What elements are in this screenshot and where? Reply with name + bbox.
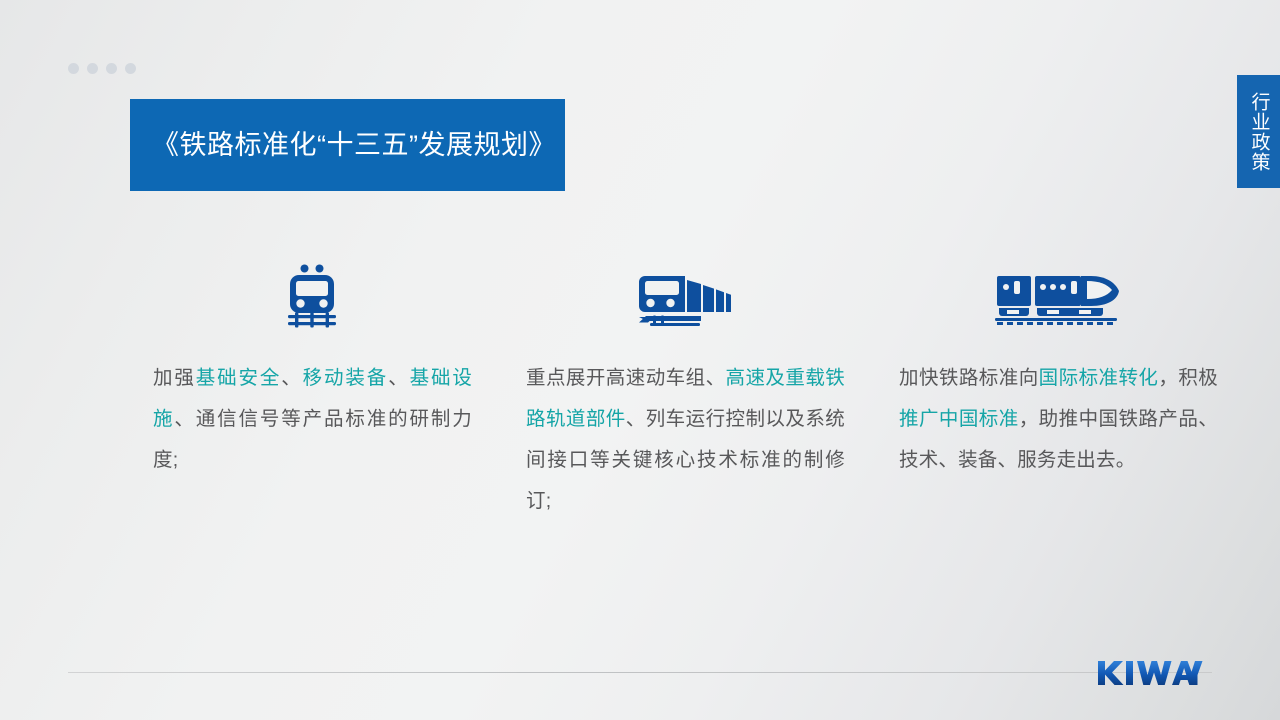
- body-text-run: 加快铁路标准向: [899, 367, 1039, 389]
- body-text-run: ，积极: [1158, 367, 1218, 389]
- body-text-run: 、: [281, 367, 302, 389]
- column-2-text: 重点展开高速动车组、高速及重载铁路轨道部件、列车运行控制以及系统间接口等关键核心…: [498, 358, 871, 522]
- highlighted-phrase: 基础安全: [196, 367, 282, 389]
- high-speed-train-icon: [871, 250, 1244, 328]
- slide-canvas: 《铁路标准化“十三五”发展规划》 行业政策: [0, 0, 1280, 720]
- body-text-run: 重点展开高速动车组、: [526, 367, 726, 389]
- footer-divider: [68, 672, 1212, 673]
- content-column-1: 加强基础安全、移动装备、基础设施、通信信号等产品标准的研制力度;: [125, 250, 498, 522]
- body-text-run: 、通信信号等产品标准的研制力度;: [153, 408, 472, 471]
- title-banner: 《铁路标准化“十三五”发展规划》: [130, 99, 565, 191]
- highlighted-phrase: 移动装备: [303, 367, 389, 389]
- column-3-text: 加快铁路标准向国际标准转化，积极推广中国标准，助推中国铁路产品、技术、装备、服务…: [871, 358, 1244, 481]
- train-front-icon: [125, 250, 498, 328]
- section-tab-label: 行业政策: [1246, 92, 1272, 172]
- column-1-text: 加强基础安全、移动装备、基础设施、通信信号等产品标准的研制力度;: [125, 358, 498, 481]
- brand-logo: [1096, 658, 1204, 688]
- content-column-3: 加快铁路标准向国际标准转化，积极推广中国标准，助推中国铁路产品、技术、装备、服务…: [871, 250, 1244, 522]
- body-text-run: 加强: [153, 367, 196, 389]
- decor-dot: [125, 63, 136, 74]
- section-tab-industry-policy[interactable]: 行业政策: [1237, 75, 1280, 188]
- train-perspective-icon: [498, 250, 871, 328]
- content-columns: 加强基础安全、移动装备、基础设施、通信信号等产品标准的研制力度;: [0, 250, 1280, 522]
- page-title: 《铁路标准化“十三五”发展规划》: [152, 126, 543, 164]
- body-text-run: 、: [388, 367, 409, 389]
- decor-dot: [106, 63, 117, 74]
- content-column-2: 重点展开高速动车组、高速及重载铁路轨道部件、列车运行控制以及系统间接口等关键核心…: [498, 250, 871, 522]
- decorative-dots: [68, 63, 136, 74]
- highlighted-phrase: 推广中国标准: [899, 408, 1019, 430]
- decor-dot: [87, 63, 98, 74]
- highlighted-phrase: 国际标准转化: [1039, 367, 1159, 389]
- decor-dot: [68, 63, 79, 74]
